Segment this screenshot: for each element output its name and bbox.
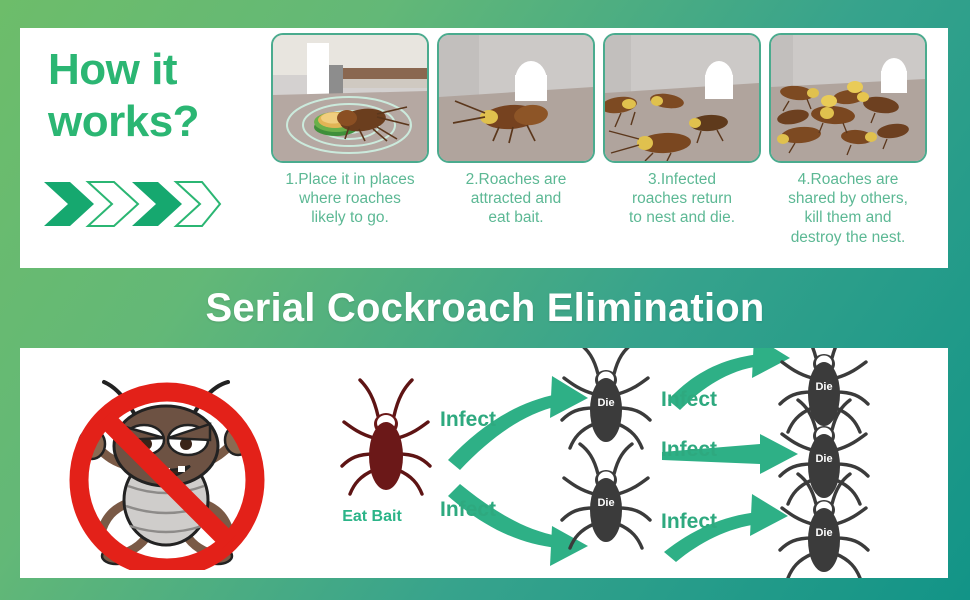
infect-label-3: Infect [661,388,717,412]
step-1: 1.Place it in places where roaches likel… [271,33,429,265]
steps-row: 1.Place it in places where roaches likel… [271,33,941,265]
caption-line: to nest and die. [629,208,735,227]
step-2-caption: 2.Roaches are attracted and eat bait. [466,170,567,228]
title-banner: Serial Cockroach Elimination [0,272,970,344]
step-4-image [769,33,927,163]
infect-label-2: Infect [440,498,496,522]
cockroach-red-icon [342,380,430,494]
die-label: Die [597,497,614,509]
caption-line: 1.Place it in places [285,170,414,189]
caption-line: 2.Roaches are [466,170,567,189]
caption-line: where roaches [285,189,414,208]
caption-line: attracted and [466,189,567,208]
heading-line-1: How it [48,44,263,96]
cockroach-dead-icon-2: Die [562,444,650,548]
step-1-caption: 1.Place it in places where roaches likel… [285,170,414,228]
infect-label-4: Infect [661,438,717,462]
step-3: 3.Infected roaches return to nest and di… [603,33,761,265]
banner-title: Serial Cockroach Elimination [205,286,764,331]
step-4-caption: 4.Roaches are shared by others, kill the… [788,170,908,247]
heading-line-2: works? [48,96,263,148]
infographic-page: How it works? [0,0,970,600]
die-label: Die [815,453,832,465]
how-it-works-heading: How it works? [48,44,263,148]
step-2-image [437,33,595,163]
step-2: 2.Roaches are attracted and eat bait. [437,33,595,265]
how-it-works-panel: How it works? [20,28,948,268]
infect-label-1: Infect [440,408,496,432]
cockroach-dead-icon-3: Die [780,348,868,432]
infect-label-5: Infect [661,510,717,534]
serial-elimination-diagram-panel: Die Die [20,348,948,578]
infect-arrow-2 [448,484,588,566]
caption-line: 4.Roaches are [788,170,908,189]
no-cockroach-sign-icon [60,360,275,575]
infection-flow-diagram: Die Die [320,348,940,578]
caption-line: roaches return [629,189,735,208]
step-1-image [271,33,429,163]
caption-line: destroy the nest. [788,228,908,247]
caption-line: shared by others, [788,189,908,208]
step-3-image [603,33,761,163]
step-4: 4.Roaches are shared by others, kill the… [769,33,927,265]
caption-line: 3.Infected [629,170,735,189]
caption-line: eat bait. [466,208,567,227]
eat-bait-label: Eat Bait [327,508,417,526]
double-chevron-right-icon [42,178,222,235]
die-label: Die [815,527,832,539]
caption-line: kill them and [788,208,908,227]
step-3-caption: 3.Infected roaches return to nest and di… [629,170,735,228]
die-label: Die [815,381,832,393]
die-label: Die [597,397,614,409]
caption-line: likely to go. [285,208,414,227]
